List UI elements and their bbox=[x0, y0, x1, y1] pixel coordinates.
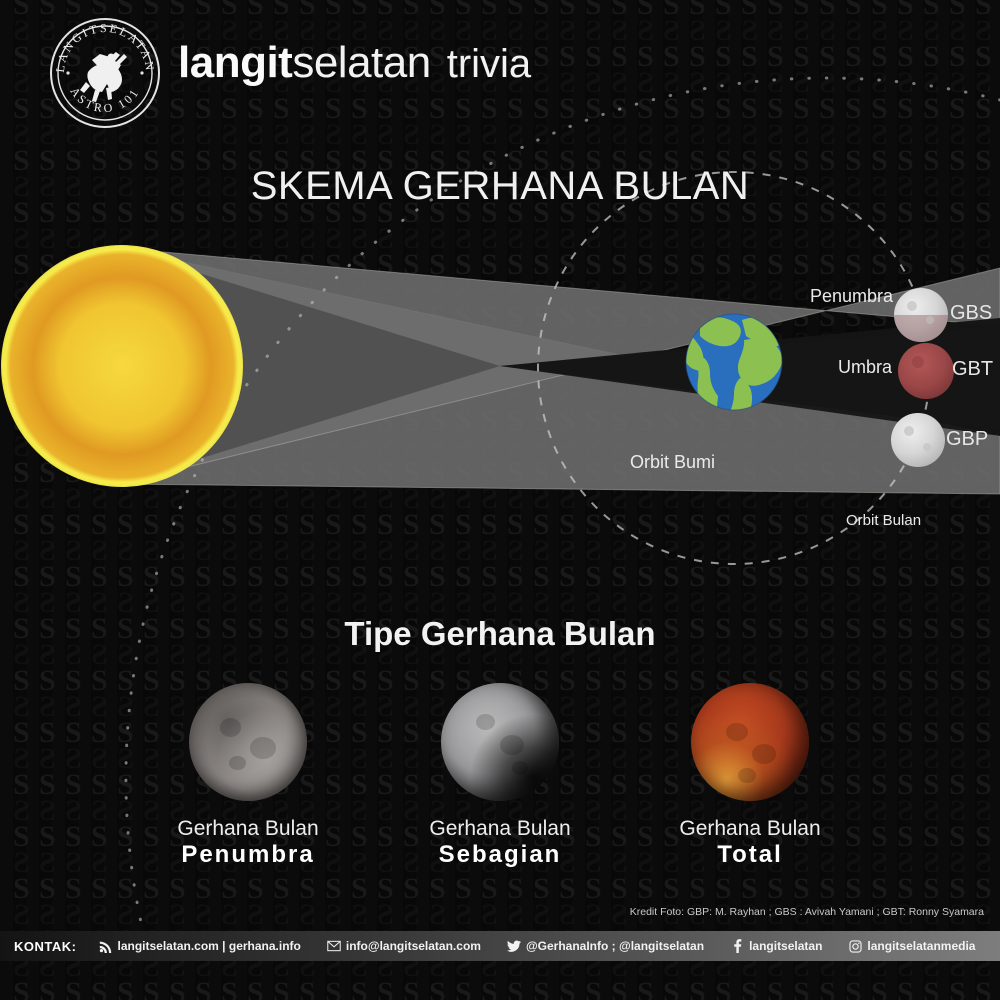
page-title: SKEMA GERHANA BULAN bbox=[0, 164, 1000, 209]
type-card-partial: Gerhana Bulan Sebagian bbox=[390, 683, 610, 870]
brand-trivia-text: trivia bbox=[447, 42, 531, 86]
envelope-icon bbox=[327, 939, 341, 953]
brand-bold-text: langit bbox=[178, 38, 292, 87]
footer-kontak-label: KONTAK: bbox=[0, 939, 98, 954]
type-label-line2: Penumbra bbox=[138, 841, 358, 870]
brand-wordmark: langitselatantrivia bbox=[178, 38, 531, 88]
moon-image-partial bbox=[441, 683, 559, 801]
type-label-line1: Gerhana Bulan bbox=[640, 817, 860, 841]
label-gbs: GBS bbox=[950, 302, 992, 325]
label-orbit-bumi: Orbit Bumi bbox=[630, 452, 715, 473]
footer-item-instagram[interactable]: langitselatanmedia bbox=[848, 939, 1000, 953]
label-orbit-bulan: Orbit Bulan bbox=[846, 512, 921, 529]
contact-footer-bar: KONTAK: langitselatan.com | gerhana.info… bbox=[0, 931, 1000, 961]
moon-gbt bbox=[898, 343, 954, 399]
footer-item-website-text: langitselatan.com | gerhana.info bbox=[117, 939, 300, 953]
moon-image-penumbral bbox=[189, 683, 307, 801]
footer-item-twitter[interactable]: @GerhanaInfo ; @langitselatan bbox=[507, 939, 730, 953]
moon-gbp bbox=[891, 413, 945, 467]
footer-item-facebook-text: langitselatan bbox=[749, 939, 822, 953]
page-header: LANGITSELATAN ASTRO 101 langitselatantri… bbox=[0, 0, 1000, 140]
label-gbp: GBP bbox=[946, 428, 988, 451]
infographic-page: SSSSSSSSSSSSSSSSSSSSSSSSSSSSSSSSSSSSSSSS… bbox=[0, 0, 1000, 1000]
photo-credit: Kredit Foto: GBP: M. Rayhan ; GBS : Aviv… bbox=[630, 906, 984, 918]
footer-item-twitter-text: @GerhanaInfo ; @langitselatan bbox=[526, 939, 704, 953]
types-section-title: Tipe Gerhana Bulan bbox=[0, 615, 1000, 653]
footer-item-instagram-text: langitselatanmedia bbox=[867, 939, 975, 953]
footer-item-website[interactable]: langitselatan.com | gerhana.info bbox=[98, 939, 326, 953]
type-card-penumbral: Gerhana Bulan Penumbra bbox=[138, 683, 358, 870]
langitselatan-logo-icon: LANGITSELATAN ASTRO 101 bbox=[48, 16, 162, 130]
brand-light-text: selatan bbox=[292, 38, 430, 87]
logo-arc-bottom-text: ASTRO 101 bbox=[67, 85, 142, 116]
sun bbox=[2, 246, 242, 486]
type-label-line2: Total bbox=[640, 841, 860, 870]
type-label-line1: Gerhana Bulan bbox=[138, 817, 358, 841]
label-gbt: GBT bbox=[952, 358, 993, 381]
instagram-icon bbox=[848, 939, 862, 953]
label-penumbra: Penumbra bbox=[810, 286, 893, 307]
rss-icon bbox=[98, 939, 112, 953]
footer-item-email[interactable]: info@langitselatan.com bbox=[327, 939, 507, 953]
type-card-total: Gerhana Bulan Total bbox=[640, 683, 860, 870]
type-label-line2: Sebagian bbox=[390, 841, 610, 870]
moon-image-total bbox=[691, 683, 809, 801]
footer-item-email-text: info@langitselatan.com bbox=[346, 939, 481, 953]
label-umbra: Umbra bbox=[838, 357, 892, 378]
moon-gbs bbox=[894, 288, 948, 342]
type-label-line1: Gerhana Bulan bbox=[390, 817, 610, 841]
twitter-icon bbox=[507, 939, 521, 953]
footer-item-facebook[interactable]: langitselatan bbox=[730, 939, 848, 953]
facebook-icon bbox=[730, 939, 744, 953]
